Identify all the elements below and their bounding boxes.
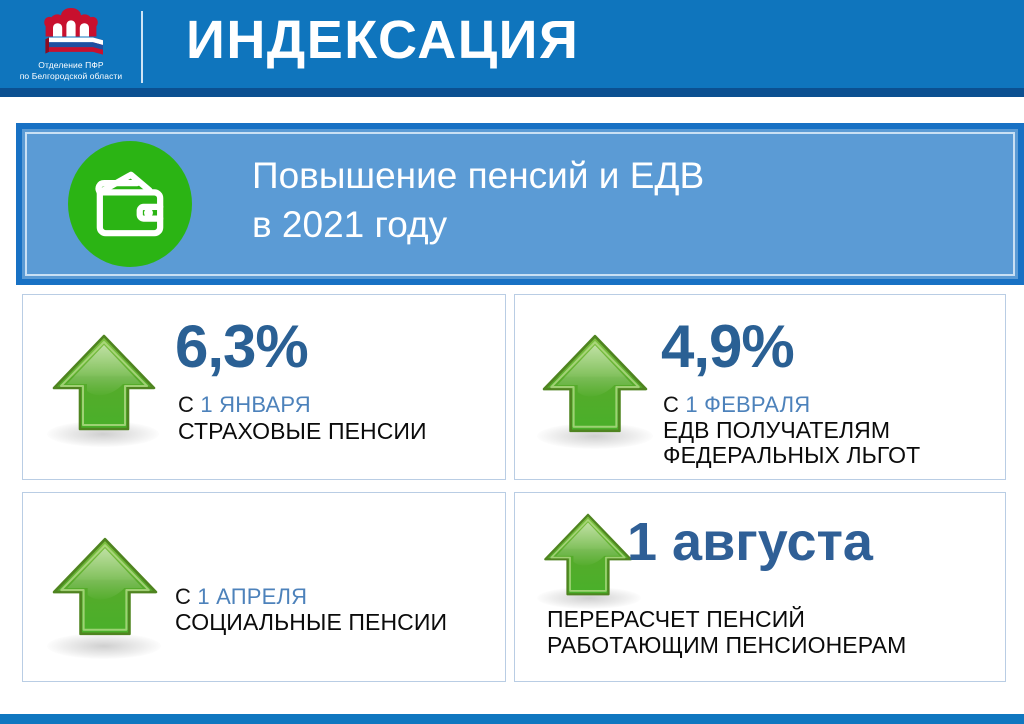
header-underline [0, 88, 1024, 97]
card-social-pensions: С 1 АПРЕЛЯ СОЦИАЛЬНЫЕ ПЕНСИИ [22, 492, 506, 682]
card-description-line2: ФЕДЕРАЛЬНЫХ ЛЬГОТ [663, 442, 920, 468]
pfr-logo-caption: Отделение ПФР по Белгородской области [12, 60, 130, 82]
card-value: 4,9% [661, 317, 794, 377]
card-date-line: С 1 ФЕВРАЛЯ [663, 392, 810, 418]
banner-text-line1: Повышение пенсий и ЕДВ [252, 151, 704, 200]
card-description-line2: РАБОТАЮЩИМ ПЕНСИОНЕРАМ [547, 632, 906, 658]
pfr-logo-caption-line1: Отделение ПФР [12, 60, 130, 71]
wallet-icon [68, 141, 192, 267]
green-up-arrow-icon [541, 512, 635, 598]
banner-text-line2: в 2021 году [252, 200, 704, 249]
card-edv-federal-benefits: 4,9% С 1 ФЕВРАЛЯ ЕДВ ПОЛУЧАТЕЛЯМ ФЕДЕРАЛ… [514, 294, 1006, 480]
card-description-line1: СТРАХОВЫЕ ПЕНСИИ [178, 418, 427, 444]
card-value: 6,3% [175, 317, 308, 377]
card-description-line1: ЕДВ ПОЛУЧАТЕЛЯМ [663, 417, 890, 443]
card-insurance-pensions: 6,3% С 1 ЯНВАРЯ СТРАХОВЫЕ ПЕНСИИ [22, 294, 506, 480]
card-description-line1: СОЦИАЛЬНЫЕ ПЕНСИИ [175, 609, 447, 635]
card-value: 1 августа [627, 515, 873, 569]
card-date-prefix: С [175, 584, 191, 609]
footer-strip [0, 714, 1024, 724]
banner-text: Повышение пенсий и ЕДВ в 2021 году [252, 151, 704, 249]
green-up-arrow-icon [539, 333, 651, 435]
page-title: ИНДЕКСАЦИЯ [186, 7, 579, 73]
card-date-prefix: С [178, 392, 194, 417]
card-description-line1: ПЕРЕРАСЧЕТ ПЕНСИЙ [547, 606, 805, 632]
pfr-logo-caption-line2: по Белгородской области [12, 71, 130, 82]
card-date-line: С 1 ЯНВАРЯ [178, 392, 311, 418]
pfr-logo: Отделение ПФР по Белгородской области [12, 4, 130, 88]
green-up-arrow-icon [49, 531, 161, 643]
card-date-accent: 1 ЯНВАРЯ [200, 392, 310, 417]
card-date-accent: 1 ФЕВРАЛЯ [685, 392, 810, 417]
card-date-accent: 1 АПРЕЛЯ [197, 584, 307, 609]
pfr-crest-icon [35, 6, 107, 56]
card-working-pensioners-recalculation: 1 августа ПЕРЕРАСЧЕТ ПЕНСИЙ РАБОТАЮЩИМ П… [514, 492, 1006, 682]
card-date-prefix: С [663, 392, 679, 417]
green-up-arrow-icon [49, 333, 159, 433]
header-divider [141, 11, 143, 83]
card-date-line: С 1 АПРЕЛЯ [175, 584, 307, 610]
page-header: Отделение ПФР по Белгородской области ИН… [0, 0, 1024, 88]
banner: Повышение пенсий и ЕДВ в 2021 году [16, 123, 1024, 285]
